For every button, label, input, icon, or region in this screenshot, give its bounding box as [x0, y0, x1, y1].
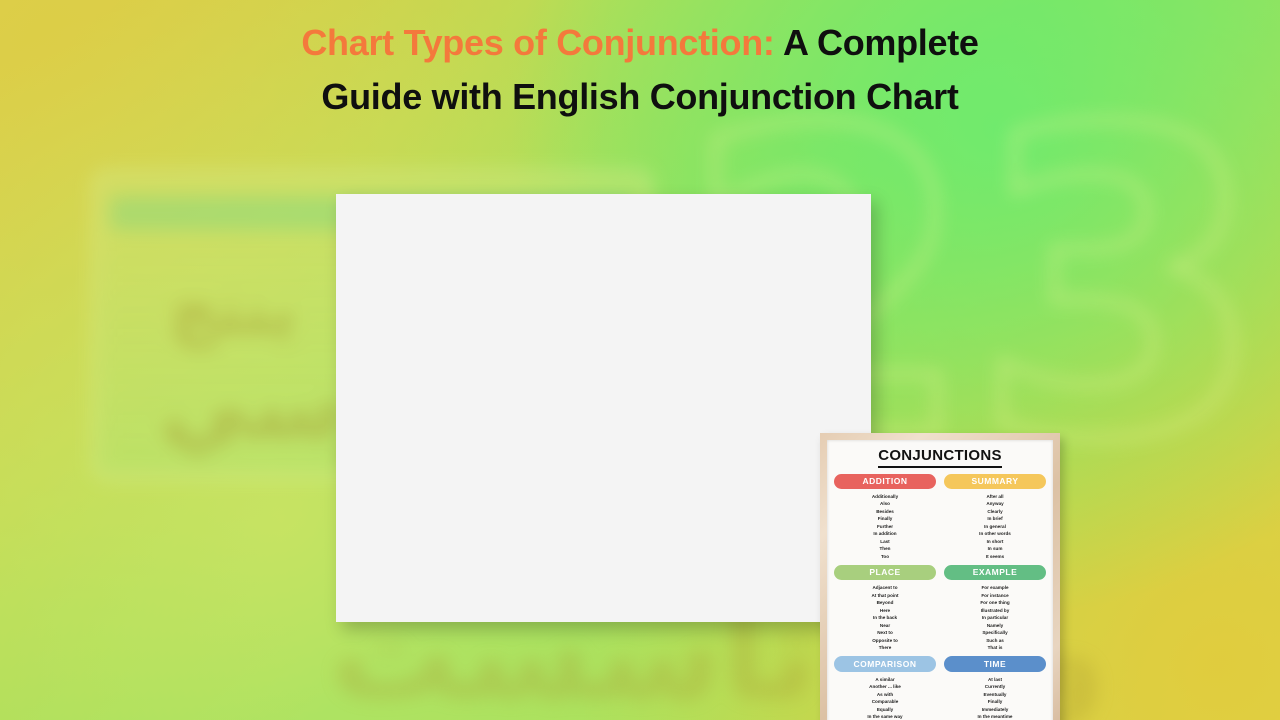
- category-word-list-place: Adjacent toAt that pointBeyondHereIn the…: [834, 584, 936, 651]
- list-item: Illustrated by: [944, 607, 1046, 614]
- list-item: As with: [834, 691, 936, 698]
- conjunction-category-place: PLACEAdjacent toAt that pointBeyondHereI…: [834, 565, 936, 651]
- list-item: Then: [834, 545, 936, 552]
- list-item: Finally: [944, 698, 1046, 705]
- list-item: A similar: [834, 676, 936, 683]
- list-item: Further: [834, 523, 936, 530]
- conjunction-category-grid: ADDITIONAdditionallyAlsoBesidesFinallyFu…: [834, 474, 1046, 720]
- list-item: Additionally: [834, 493, 936, 500]
- list-item: Namely: [944, 622, 1046, 629]
- list-item: That is: [944, 644, 1046, 651]
- list-item: Near: [834, 622, 936, 629]
- category-pill-example: EXAMPLE: [944, 565, 1046, 581]
- list-item: At that point: [834, 592, 936, 599]
- category-word-list-example: For exampleFor instanceFor one thingIllu…: [944, 584, 1046, 651]
- list-item: In other words: [944, 530, 1046, 537]
- list-item: Opposite to: [834, 637, 936, 644]
- list-item: For example: [944, 584, 1046, 591]
- poster-frame-inner: CONJUNCTIONS ADDITIONAdditionallyAlsoBes…: [827, 440, 1053, 720]
- list-item: Immediately: [944, 706, 1046, 713]
- conjunction-category-addition: ADDITIONAdditionallyAlsoBesidesFinallyFu…: [834, 474, 936, 560]
- list-item: In brief: [944, 515, 1046, 522]
- conjunction-category-comparison: COMPARISONA similarAnother ... likeAs wi…: [834, 656, 936, 720]
- list-item: In general: [944, 523, 1046, 530]
- list-item: In particular: [944, 614, 1046, 621]
- poster-card: CONJUNCTIONS ADDITIONAdditionallyAlsoBes…: [336, 194, 871, 622]
- list-item: Another ... like: [834, 683, 936, 690]
- page-stage: ينتج وسي وقو تأسست 23 Chart Types of Con…: [0, 0, 1280, 720]
- category-pill-summary: SUMMARY: [944, 474, 1046, 490]
- list-item: Besides: [834, 508, 936, 515]
- list-item: At last: [944, 676, 1046, 683]
- list-item: Last: [834, 538, 936, 545]
- list-item: Equally: [834, 706, 936, 713]
- conjunction-category-summary: SUMMARYAfter allAnywayClearlyIn briefIn …: [944, 474, 1046, 560]
- category-word-list-time: At lastCurrentlyEventuallyFinallyImmedia…: [944, 676, 1046, 720]
- list-item: It seems: [944, 553, 1046, 560]
- poster-title: CONJUNCTIONS: [878, 448, 1002, 468]
- watermark-arabic-text-1: ينتج: [170, 272, 296, 349]
- page-title: Chart Types of Conjunction: A Complete G…: [290, 16, 990, 124]
- list-item: Anyway: [944, 500, 1046, 507]
- category-pill-time: TIME: [944, 656, 1046, 672]
- list-item: Next to: [834, 629, 936, 636]
- category-word-list-addition: AdditionallyAlsoBesidesFinallyFurtherIn …: [834, 493, 936, 560]
- list-item: Also: [834, 500, 936, 507]
- category-pill-addition: ADDITION: [834, 474, 936, 490]
- list-item: After all: [944, 493, 1046, 500]
- list-item: Specifically: [944, 629, 1046, 636]
- page-title-accent: Chart Types of Conjunction:: [301, 22, 774, 63]
- list-item: Clearly: [944, 508, 1046, 515]
- conjunction-category-time: TIMEAt lastCurrentlyEventuallyFinallyImm…: [944, 656, 1046, 720]
- list-item: Comparable: [834, 698, 936, 705]
- poster-frame: CONJUNCTIONS ADDITIONAdditionallyAlsoBes…: [820, 433, 1060, 720]
- list-item: Too: [834, 553, 936, 560]
- category-pill-place: PLACE: [834, 565, 936, 581]
- list-item: Here: [834, 607, 936, 614]
- list-item: In sum: [944, 545, 1046, 552]
- list-item: For one thing: [944, 599, 1046, 606]
- category-word-list-summary: After allAnywayClearlyIn briefIn general…: [944, 493, 1046, 560]
- list-item: In the meantime: [944, 713, 1046, 720]
- list-item: In short: [944, 538, 1046, 545]
- list-item: In addition: [834, 530, 936, 537]
- list-item: For instance: [944, 592, 1046, 599]
- category-pill-comparison: COMPARISON: [834, 656, 936, 672]
- list-item: Beyond: [834, 599, 936, 606]
- list-item: Eventually: [944, 691, 1046, 698]
- list-item: Currently: [944, 683, 1046, 690]
- conjunction-category-example: EXAMPLEFor exampleFor instanceFor one th…: [944, 565, 1046, 651]
- list-item: Finally: [834, 515, 936, 522]
- list-item: Adjacent to: [834, 584, 936, 591]
- category-word-list-comparison: A similarAnother ... likeAs withComparab…: [834, 676, 936, 720]
- list-item: There: [834, 644, 936, 651]
- list-item: In the same way: [834, 713, 936, 720]
- list-item: Such as: [944, 637, 1046, 644]
- list-item: In the back: [834, 614, 936, 621]
